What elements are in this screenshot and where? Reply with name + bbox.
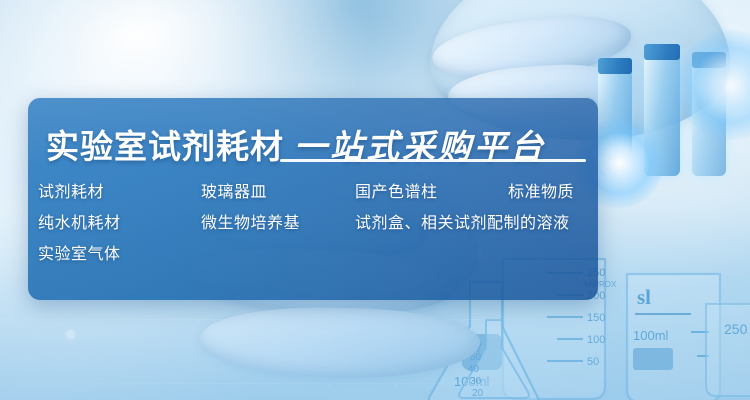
- category-row: 实验室气体: [38, 240, 598, 271]
- headline-panel: 实验室试剂耗材一站式采购平台 试剂耗材 玻璃器皿 国产色谱柱 标准物质 纯水机耗…: [28, 98, 598, 300]
- category-row: 纯水机耗材 微生物培养基 试剂盒、相关试剂配制的溶液: [38, 209, 598, 240]
- category-row: 试剂耗材 玻璃器皿 国产色谱柱 标准物质: [38, 178, 598, 209]
- promo-banner: 250200 15010050 APPROX GG-17 100ml 5040 …: [0, 0, 750, 400]
- category-item[interactable]: 纯水机耗材: [38, 209, 121, 233]
- category-item[interactable]: 国产色谱柱: [355, 178, 438, 202]
- category-item[interactable]: 微生物培养基: [201, 209, 300, 233]
- category-item[interactable]: 标准物质: [508, 178, 574, 202]
- category-item[interactable]: 试剂耗材: [38, 178, 104, 202]
- category-item[interactable]: 实验室气体: [38, 240, 121, 264]
- category-item[interactable]: 玻璃器皿: [201, 178, 267, 202]
- category-item[interactable]: 试剂盒、相关试剂配制的溶液: [355, 209, 570, 233]
- headline-underline: [280, 159, 586, 162]
- category-list: 试剂耗材 玻璃器皿 国产色谱柱 标准物质 纯水机耗材 微生物培养基 试剂盒、相关…: [38, 178, 598, 271]
- headline-main: 实验室试剂耗材: [46, 128, 284, 165]
